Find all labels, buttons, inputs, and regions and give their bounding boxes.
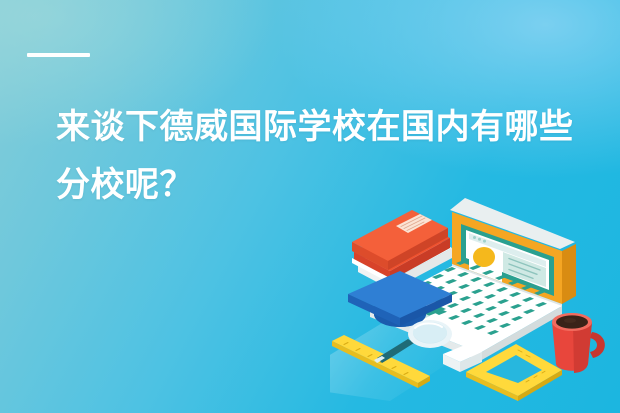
white-divider-dash [27, 53, 90, 57]
illustration-desk-scene [330, 186, 620, 413]
promo-banner: 来谈下德威国际学校在国内有哪些分校呢？ [0, 0, 620, 413]
coffee-mug-icon [552, 313, 605, 373]
